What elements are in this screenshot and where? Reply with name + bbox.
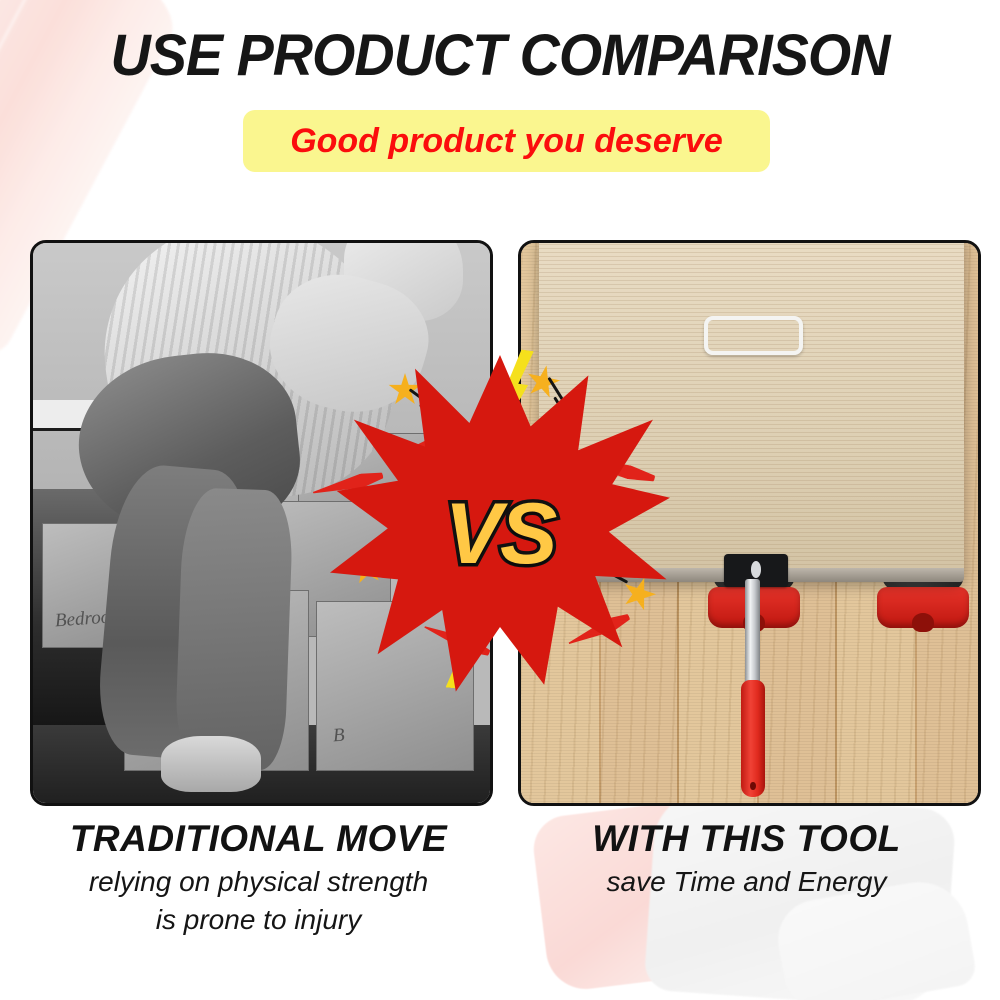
box-label: B xyxy=(332,724,345,747)
lifter-shaft xyxy=(745,579,761,691)
star-icon xyxy=(523,362,563,402)
caption-line-1: relying on physical strength xyxy=(30,866,487,898)
caption-line-1: save Time and Energy xyxy=(518,866,975,898)
caption-title: WITH THIS TOOL xyxy=(518,818,975,860)
product-comparison-infographic: USE PRODUCT COMPARISON Good product you … xyxy=(0,0,1000,1000)
photo-person-leg-2 xyxy=(174,488,293,772)
caption-traditional-move: TRADITIONAL MOVE relying on physical str… xyxy=(30,818,487,936)
caption-line-2: is prone to injury xyxy=(30,904,487,936)
lifter-grip xyxy=(741,680,765,798)
caption-title: TRADITIONAL MOVE xyxy=(30,818,487,860)
page-title: USE PRODUCT COMPARISON xyxy=(20,22,980,89)
caption-with-this-tool: WITH THIS TOOL save Time and Energy xyxy=(518,818,975,898)
versus-label: VS xyxy=(330,491,670,577)
tagline-badge: Good product you deserve xyxy=(243,110,770,172)
photo-person-foot xyxy=(161,736,262,792)
mover-notch xyxy=(912,613,934,632)
furniture-handle xyxy=(704,316,803,355)
tagline-text: Good product you deserve xyxy=(290,122,723,161)
versus-badge: VS xyxy=(330,355,670,695)
